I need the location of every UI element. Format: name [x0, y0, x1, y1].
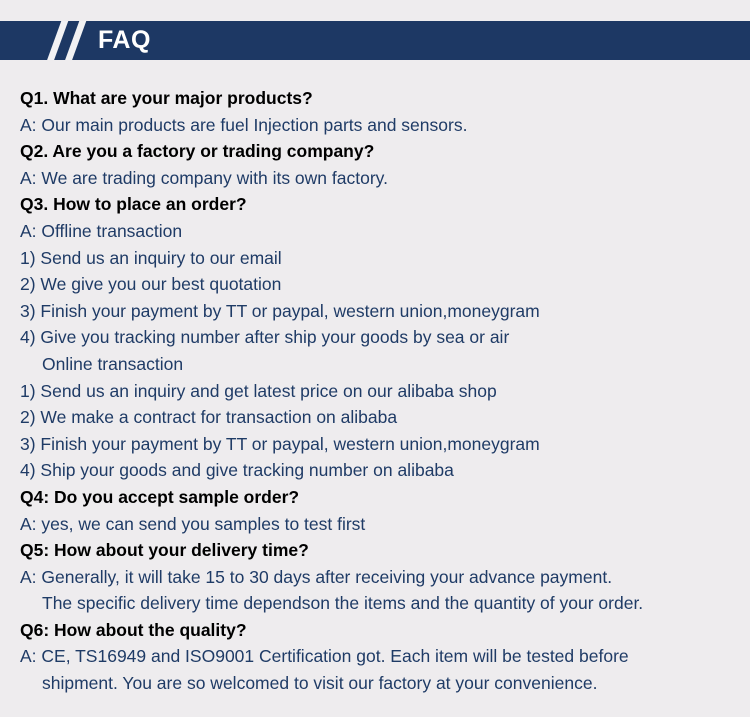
faq-answer-line: A: CE, TS16949 and ISO9001 Certification… [20, 643, 735, 670]
faq-answer-line: 3) Finish your payment by TT or paypal, … [20, 298, 735, 325]
faq-answer-line: 4) Ship your goods and give tracking num… [20, 457, 735, 484]
faq-question-line: Q3. How to place an order? [20, 191, 735, 218]
faq-page: FAQ Q1. What are your major products?A: … [0, 0, 750, 717]
faq-header-bar: FAQ [0, 21, 750, 60]
faq-answer-line: 1) Send us an inquiry to our email [20, 245, 735, 272]
faq-answer-line: 3) Finish your payment by TT or paypal, … [20, 431, 735, 458]
faq-content: Q1. What are your major products?A: Our … [20, 85, 735, 697]
faq-answer-line: 2) We give you our best quotation [20, 271, 735, 298]
slash-mark-2 [63, 21, 89, 60]
faq-question-line: Q2. Are you a factory or trading company… [20, 138, 735, 165]
faq-answer-line: 4) Give you tracking number after ship y… [20, 324, 735, 351]
faq-answer-line: 1) Send us an inquiry and get latest pri… [20, 378, 735, 405]
faq-question-line: Q1. What are your major products? [20, 85, 735, 112]
faq-answer-line: A: We are trading company with its own f… [20, 165, 735, 192]
faq-answer-line: A: Our main products are fuel Injection … [20, 112, 735, 139]
faq-answer-line: 2) We make a contract for transaction on… [20, 404, 735, 431]
faq-question-line: Q5: How about your delivery time? [20, 537, 735, 564]
double-slash-icon [48, 21, 100, 60]
faq-answer-line: A: Generally, it will take 15 to 30 days… [20, 564, 735, 591]
faq-answer-line: shipment. You are so welcomed to visit o… [20, 670, 735, 697]
faq-answer-line: A: Offline transaction [20, 218, 735, 245]
faq-question-line: Q4: Do you accept sample order? [20, 484, 735, 511]
faq-answer-line: A: yes, we can send you samples to test … [20, 511, 735, 538]
faq-question-line: Q6: How about the quality? [20, 617, 735, 644]
faq-answer-line: The specific delivery time dependson the… [20, 590, 735, 617]
page-title: FAQ [98, 21, 151, 60]
faq-answer-line: Online transaction [20, 351, 735, 378]
